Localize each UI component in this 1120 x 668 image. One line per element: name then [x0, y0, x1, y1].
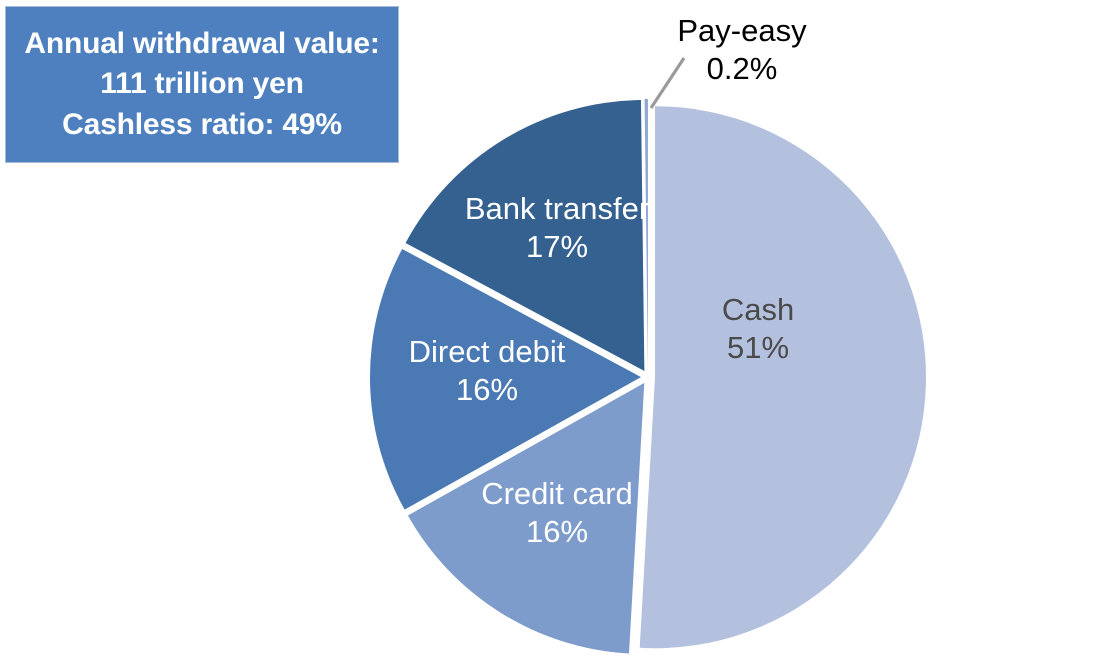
- chart-canvas: Annual withdrawal value: 111 trillion ye…: [0, 0, 1120, 668]
- pie-slice-pay-easy[interactable]: [645, 99, 648, 370]
- pay-easy-leader-line: [651, 58, 684, 108]
- pie-chart: [0, 0, 1120, 668]
- pie-slice-cash[interactable]: [640, 106, 926, 648]
- pie-slices: [370, 99, 926, 654]
